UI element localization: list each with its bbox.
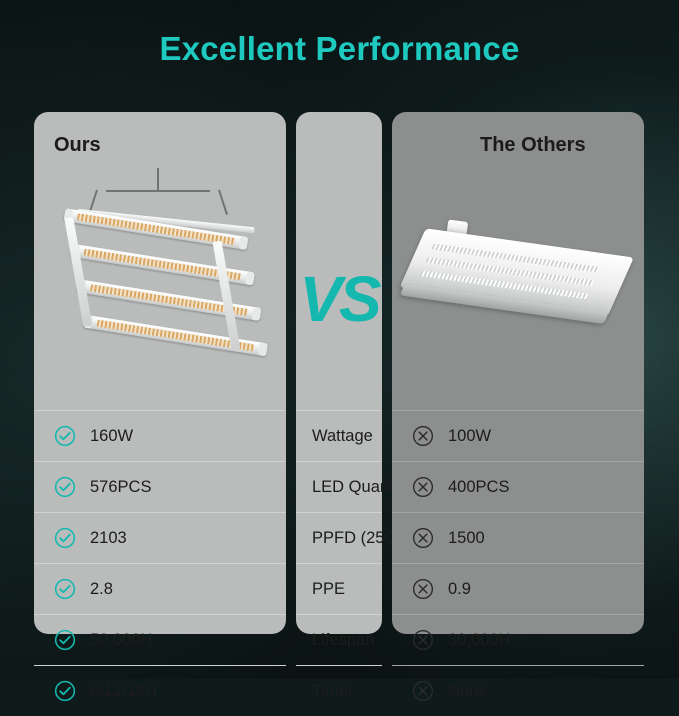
table-row: 1500 [392,512,644,563]
cell-value-ours: 576PCS [90,478,151,497]
feature-label: Wattage [312,427,373,446]
table-row: LED Quantity [296,461,382,512]
cell-value-ours: 6/12/18H [90,682,157,701]
cross-circle-icon [412,476,434,498]
cross-circle-icon [412,680,434,702]
table-row: PPFD (25CM) [296,512,382,563]
table-row: 30,000H [392,614,644,665]
rows-ours: 160W 576PCS 2103 2.8 [34,410,286,716]
table-row: 6/12/18H [34,665,286,716]
cell-value-others: 30,000H [448,631,510,650]
column-header-others: The Others [480,134,586,157]
rows-others: 100W 400PCS 1500 0.9 [392,410,644,716]
check-circle-icon [54,476,76,498]
table-row: 50,000H [34,614,286,665]
table-row: 2.8 [34,563,286,614]
table-row: None [392,665,644,716]
table-row: Wattage [296,410,382,461]
page-title: Excellent Performance [0,30,679,68]
column-header-ours: Ours [54,134,101,157]
table-row: Timer [296,665,382,716]
panel-features: VS Wattage LED Quantity PPFD (25CM) PPE … [296,112,382,634]
panel-others: The Others 100W 400P [392,112,644,634]
table-row: Lifespan [296,614,382,665]
vs-label: VS [296,262,382,336]
cell-value-ours: 160W [90,427,133,446]
rows-features: Wattage LED Quantity PPFD (25CM) PPE Lif… [296,410,382,716]
feature-label: Lifespan [312,631,374,650]
table-row: 0.9 [392,563,644,614]
cross-circle-icon [412,527,434,549]
check-circle-icon [54,629,76,651]
panel-ours: Ours [34,112,286,634]
comparison-infographic: Excellent Performance Ours [0,0,679,679]
cell-value-ours: 2.8 [90,580,113,599]
feature-label: Timer [312,682,354,701]
product-image-ours [34,160,286,410]
cross-circle-icon [412,425,434,447]
table-row: PPE [296,563,382,614]
table-row: 576PCS [34,461,286,512]
cross-circle-icon [412,629,434,651]
cell-value-others: 100W [448,427,491,446]
cell-value-others: 1500 [448,529,485,548]
table-row: 2103 [34,512,286,563]
feature-label: PPE [312,580,345,599]
table-row: 100W [392,410,644,461]
cross-circle-icon [412,578,434,600]
check-circle-icon [54,680,76,702]
cell-value-ours: 2103 [90,529,127,548]
cell-value-ours: 50,000H [90,631,152,650]
check-circle-icon [54,425,76,447]
check-circle-icon [54,578,76,600]
product-image-others [392,160,644,410]
cell-value-others: 0.9 [448,580,471,599]
table-row: 400PCS [392,461,644,512]
check-circle-icon [54,527,76,549]
cell-value-others: None [448,682,487,701]
table-row: 160W [34,410,286,461]
cell-value-others: 400PCS [448,478,509,497]
